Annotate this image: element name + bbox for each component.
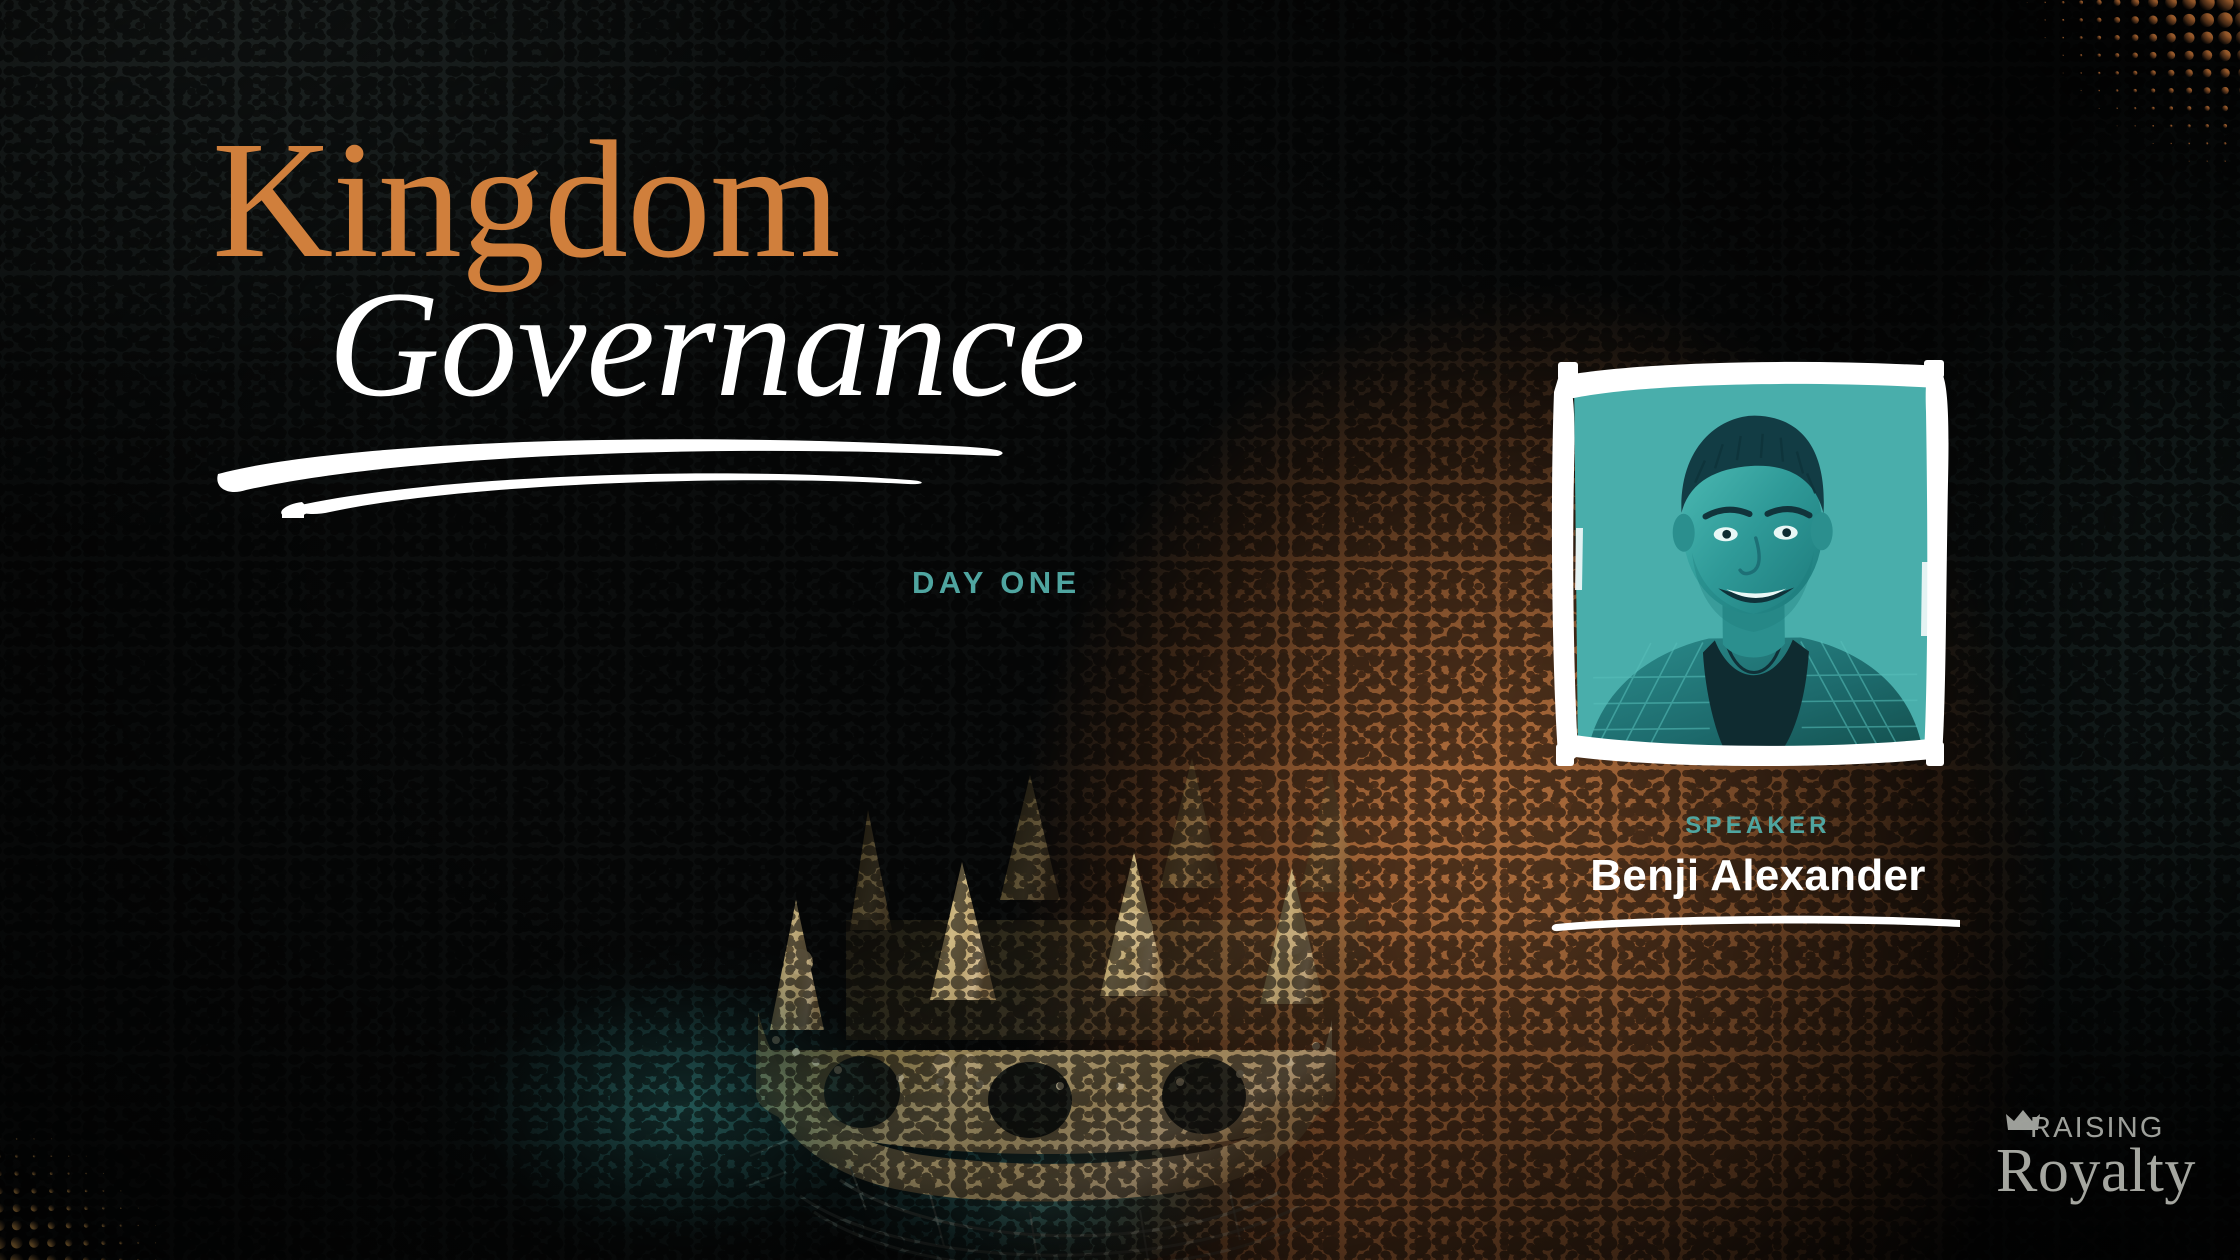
speaker-name: Benji Alexander xyxy=(1548,851,1968,901)
headline-block: Kingdom Governance xyxy=(212,120,1362,518)
title-line-governance: Governance xyxy=(328,267,1383,422)
logo-word-royalty: Royalty xyxy=(1996,1140,2196,1202)
title-line-kingdom: Kingdom xyxy=(212,120,1362,281)
headline-underline-swash xyxy=(210,428,1210,518)
raising-royalty-logo: RAISING Royalty xyxy=(1974,1108,2174,1218)
day-one-label: DAY ONE xyxy=(912,565,1081,601)
brush-frame-border xyxy=(1548,352,1960,772)
crown-photo-image xyxy=(600,600,1480,1260)
speaker-name-underline xyxy=(1548,911,1968,933)
presentation-slide: Kingdom Governance DAY ONE xyxy=(0,0,2240,1260)
speaker-photo-frame xyxy=(1548,352,1960,772)
speaker-role-label: SPEAKER xyxy=(1548,812,1968,840)
halftone-dots-top-right xyxy=(1910,0,2240,276)
speaker-block: SPEAKER Benji Alexander xyxy=(1548,352,1968,938)
halftone-dots-bottom-left xyxy=(0,1026,286,1260)
